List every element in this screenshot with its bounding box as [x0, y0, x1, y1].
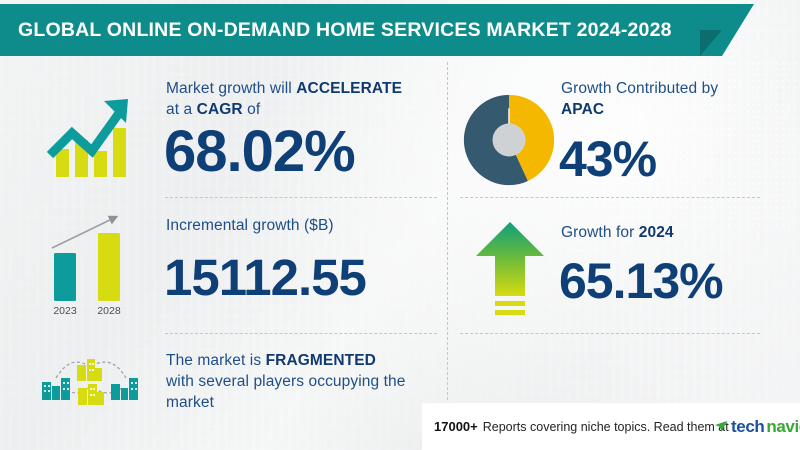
banner-fold-icon [722, 4, 754, 56]
bar-label-2028: 2028 [97, 305, 121, 317]
growth-2024-value: 65.13% [559, 252, 723, 310]
left-divider-1 [165, 197, 437, 198]
footer-report-count: 17000+ [434, 419, 478, 434]
technavio-logo[interactable]: technavio® [714, 403, 800, 450]
growth-2024-caption-bold: 2024 [639, 224, 674, 241]
right-divider-2 [460, 333, 760, 334]
cagr-caption-line1-pre: Market growth will [166, 80, 296, 97]
up-arrow-gradient-icon [472, 218, 548, 322]
right-divider-1 [460, 197, 760, 198]
growth-arrow-chart-icon [28, 85, 140, 183]
fragmentation-caption-post: with several players occupying the marke… [166, 373, 405, 411]
fragmentation-caption: The market is FRAGMENTED with several pl… [166, 350, 441, 413]
cagr-value: 68.02% [164, 118, 355, 185]
footer-description: Reports covering niche topics. Read them… [483, 420, 729, 434]
apac-caption: Growth Contributed by APAC [561, 78, 781, 120]
cagr-caption-line2-post: of [243, 101, 261, 118]
technavio-logo-navio: navio [766, 417, 800, 437]
column-divider [447, 62, 448, 400]
cagr-caption-accelerate: ACCELERATE [296, 80, 402, 97]
technavio-arrow-icon [714, 419, 729, 434]
incremental-growth-caption: Incremental growth ($B) [166, 215, 436, 236]
incremental-growth-value: 15112.55 [164, 248, 366, 307]
two-bar-comparison-icon: 2023 2028 [30, 208, 140, 320]
growth-2024-caption-pre: Growth for [561, 224, 639, 241]
donut-chart-icon [461, 92, 557, 188]
fragmentation-caption-pre: The market is [166, 352, 266, 369]
growth-2024-caption: Growth for 2024 [561, 222, 781, 243]
cagr-caption-cagr: CAGR [197, 101, 243, 118]
banner-fold-shadow-icon [700, 30, 722, 56]
cagr-caption-line2-pre: at a [166, 101, 197, 118]
connected-buildings-icon [26, 348, 148, 410]
apac-value: 43% [559, 130, 656, 188]
bar-label-2023: 2023 [53, 305, 77, 317]
footer-text: 17000+ Reports covering niche topics. Re… [434, 403, 729, 450]
apac-caption-bold: APAC [561, 101, 604, 118]
cagr-caption: Market growth will ACCELERATE at a CAGR … [166, 78, 436, 120]
infographic-canvas: GLOBAL ONLINE ON-DEMAND HOME SERVICES MA… [0, 0, 800, 450]
page-title: GLOBAL ONLINE ON-DEMAND HOME SERVICES MA… [18, 4, 672, 56]
apac-caption-pre: Growth Contributed by [561, 80, 718, 97]
technavio-logo-tech: tech [731, 417, 764, 437]
fragmentation-caption-bold: FRAGMENTED [266, 352, 376, 369]
left-divider-2 [165, 333, 437, 334]
